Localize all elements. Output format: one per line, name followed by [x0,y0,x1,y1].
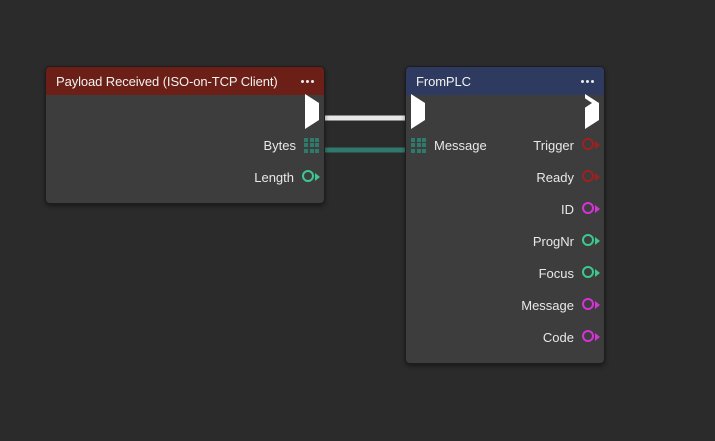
port-label-ready: Ready [536,171,574,184]
port-output-ready[interactable]: Ready [536,161,599,193]
port-row-ready: Ready [406,161,604,193]
exec-in-triangle-icon[interactable] [411,103,425,121]
port-row-code: Code [406,321,604,353]
node-body-from-plc: Message Trigger Ready [406,95,604,364]
port-label-length: Length [254,171,294,184]
circle-port-icon-code[interactable] [582,330,599,344]
port-output-exec[interactable] [577,95,599,129]
port-row-message-trigger: Message Trigger [406,129,604,161]
array-grid-icon-message[interactable] [411,138,426,153]
port-label-message-in: Message [434,139,487,152]
port-output-exec[interactable] [297,95,319,129]
circle-port-icon-ready[interactable] [582,170,599,184]
circle-port-icon-message-out[interactable] [582,298,599,312]
port-output-focus[interactable]: Focus [539,257,599,289]
circle-port-icon-focus[interactable] [582,266,599,280]
port-label-bytes: Bytes [263,139,296,152]
node-title: FromPLC [416,75,471,88]
port-label-prognr: ProgNr [533,235,574,248]
circle-port-icon-id[interactable] [582,202,599,216]
circle-port-icon-prognr[interactable] [582,234,599,248]
circle-port-icon-trigger[interactable] [582,138,599,152]
port-label-id: ID [561,203,574,216]
port-row-focus: Focus [406,257,604,289]
node-header-payload-received[interactable]: Payload Received (ISO-on-TCP Client) [46,67,324,95]
ellipsis-icon[interactable] [300,76,315,87]
port-row-exec-out [46,95,324,129]
port-output-trigger[interactable]: Trigger [533,129,599,161]
port-label-trigger: Trigger [533,139,574,152]
port-row-message-out: Message [406,289,604,321]
port-output-code[interactable]: Code [543,321,599,353]
port-row-bytes: Bytes [46,129,324,161]
port-row-prognr: ProgNr [406,225,604,257]
node-body-payload-received: Bytes Length [46,95,324,204]
port-row-length: Length [46,161,324,193]
port-label-code: Code [543,331,574,344]
port-label-focus: Focus [539,267,574,280]
node-from-plc[interactable]: FromPLC [405,66,605,364]
node-payload-received[interactable]: Payload Received (ISO-on-TCP Client) Byt… [45,66,325,204]
circle-port-icon-length[interactable] [302,170,319,184]
array-grid-icon-bytes[interactable] [304,138,319,153]
port-label-message-out: Message [521,299,574,312]
port-output-prognr[interactable]: ProgNr [533,225,599,257]
exec-out-triangle-icon[interactable] [305,103,319,121]
port-input-exec[interactable] [411,95,433,129]
port-output-length[interactable]: Length [254,161,319,193]
node-graph-canvas[interactable]: Payload Received (ISO-on-TCP Client) Byt… [0,0,715,441]
port-row-id: ID [406,193,604,225]
port-output-message[interactable]: Message [521,289,599,321]
port-row-exec [406,95,604,129]
port-output-id[interactable]: ID [561,193,599,225]
port-output-bytes[interactable]: Bytes [263,129,319,161]
port-input-message[interactable]: Message [411,129,487,161]
node-title: Payload Received (ISO-on-TCP Client) [56,75,278,88]
exec-out-triangle-icon[interactable] [585,103,599,121]
ellipsis-icon[interactable] [580,76,595,87]
node-header-from-plc[interactable]: FromPLC [406,67,604,95]
